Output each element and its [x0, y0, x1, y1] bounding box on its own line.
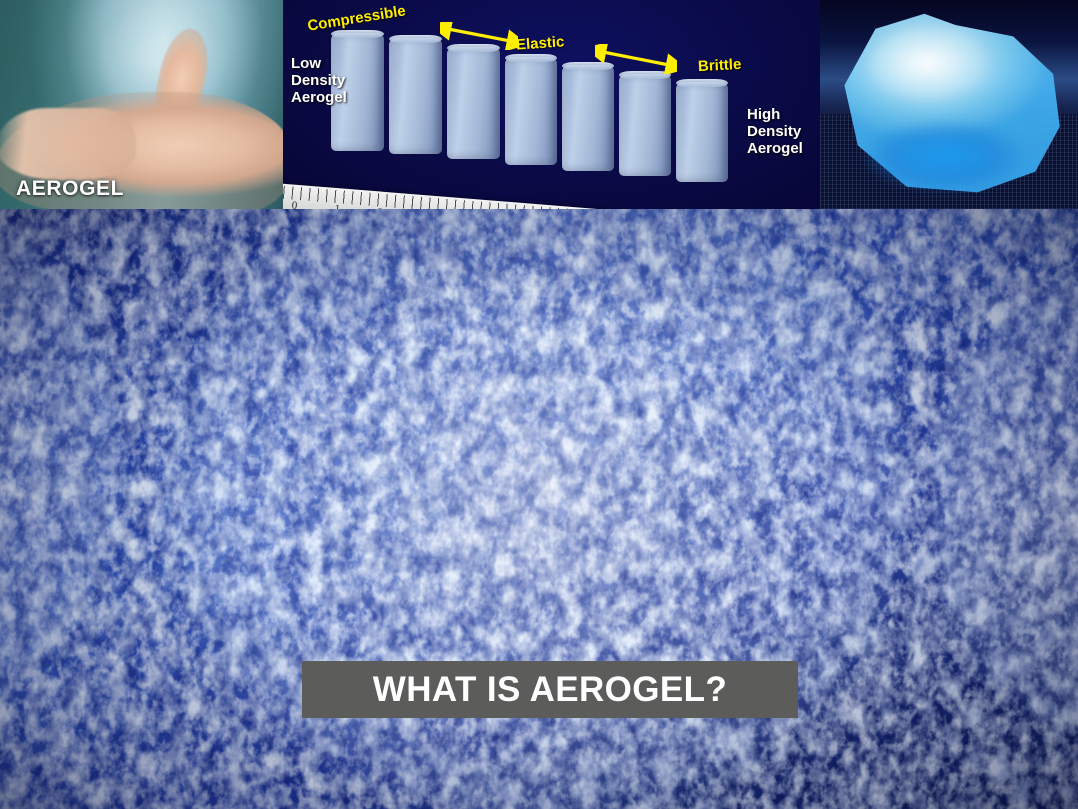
ruler: 0 1 2 3 4 5 6 7 8 9 10 11 12	[283, 183, 820, 209]
label-line: Density	[747, 124, 803, 141]
aerogel-cylinder	[619, 74, 671, 176]
slide-root: AEROGEL 0 1 2 3 4 5 6 7	[0, 0, 1078, 809]
aerogel-caption: AEROGEL	[16, 177, 124, 201]
aerogel-sem-micrograph: WHAT IS AEROGEL?	[0, 209, 1078, 809]
label-high-density-aerogel: High Density Aerogel	[747, 107, 803, 157]
aerogel-cylinder	[389, 38, 442, 154]
elastic-brittle-arrow	[595, 44, 677, 74]
page-title: WHAT IS AEROGEL?	[373, 672, 727, 707]
compressible-elastic-arrow	[440, 22, 518, 50]
label-line: Aerogel	[747, 141, 803, 158]
label-line: Low	[291, 56, 347, 73]
hand-holding-aerogel-photo: AEROGEL	[0, 0, 283, 209]
blue-aerogel-block-photo	[820, 0, 1078, 209]
label-line: High	[747, 107, 803, 124]
aerogel-cylinder	[505, 57, 557, 165]
title-banner: WHAT IS AEROGEL?	[302, 661, 798, 718]
ruler-number: 0	[291, 199, 297, 209]
label-line: Density	[291, 73, 347, 90]
label-line: Aerogel	[291, 90, 347, 107]
label-elastic: Elastic	[515, 33, 564, 53]
fingers-shape	[0, 108, 136, 180]
label-low-density-aerogel: Low Density Aerogel	[291, 56, 347, 106]
aerogel-density-series-photo: 0 1 2 3 4 5 6 7 8 9 10 11 12 Compressibl…	[283, 0, 820, 209]
aerogel-cylinder	[447, 47, 500, 159]
sem-pore-shadows	[0, 209, 1078, 809]
top-image-row: AEROGEL 0 1 2 3 4 5 6 7	[0, 0, 1078, 209]
label-brittle: Brittle	[698, 56, 742, 75]
aerogel-block-highlight	[868, 26, 998, 108]
aerogel-block-deep-blue	[864, 120, 1024, 192]
ruler-ticks	[283, 185, 820, 209]
aerogel-cylinder	[562, 65, 614, 171]
aerogel-cylinder	[676, 82, 728, 182]
